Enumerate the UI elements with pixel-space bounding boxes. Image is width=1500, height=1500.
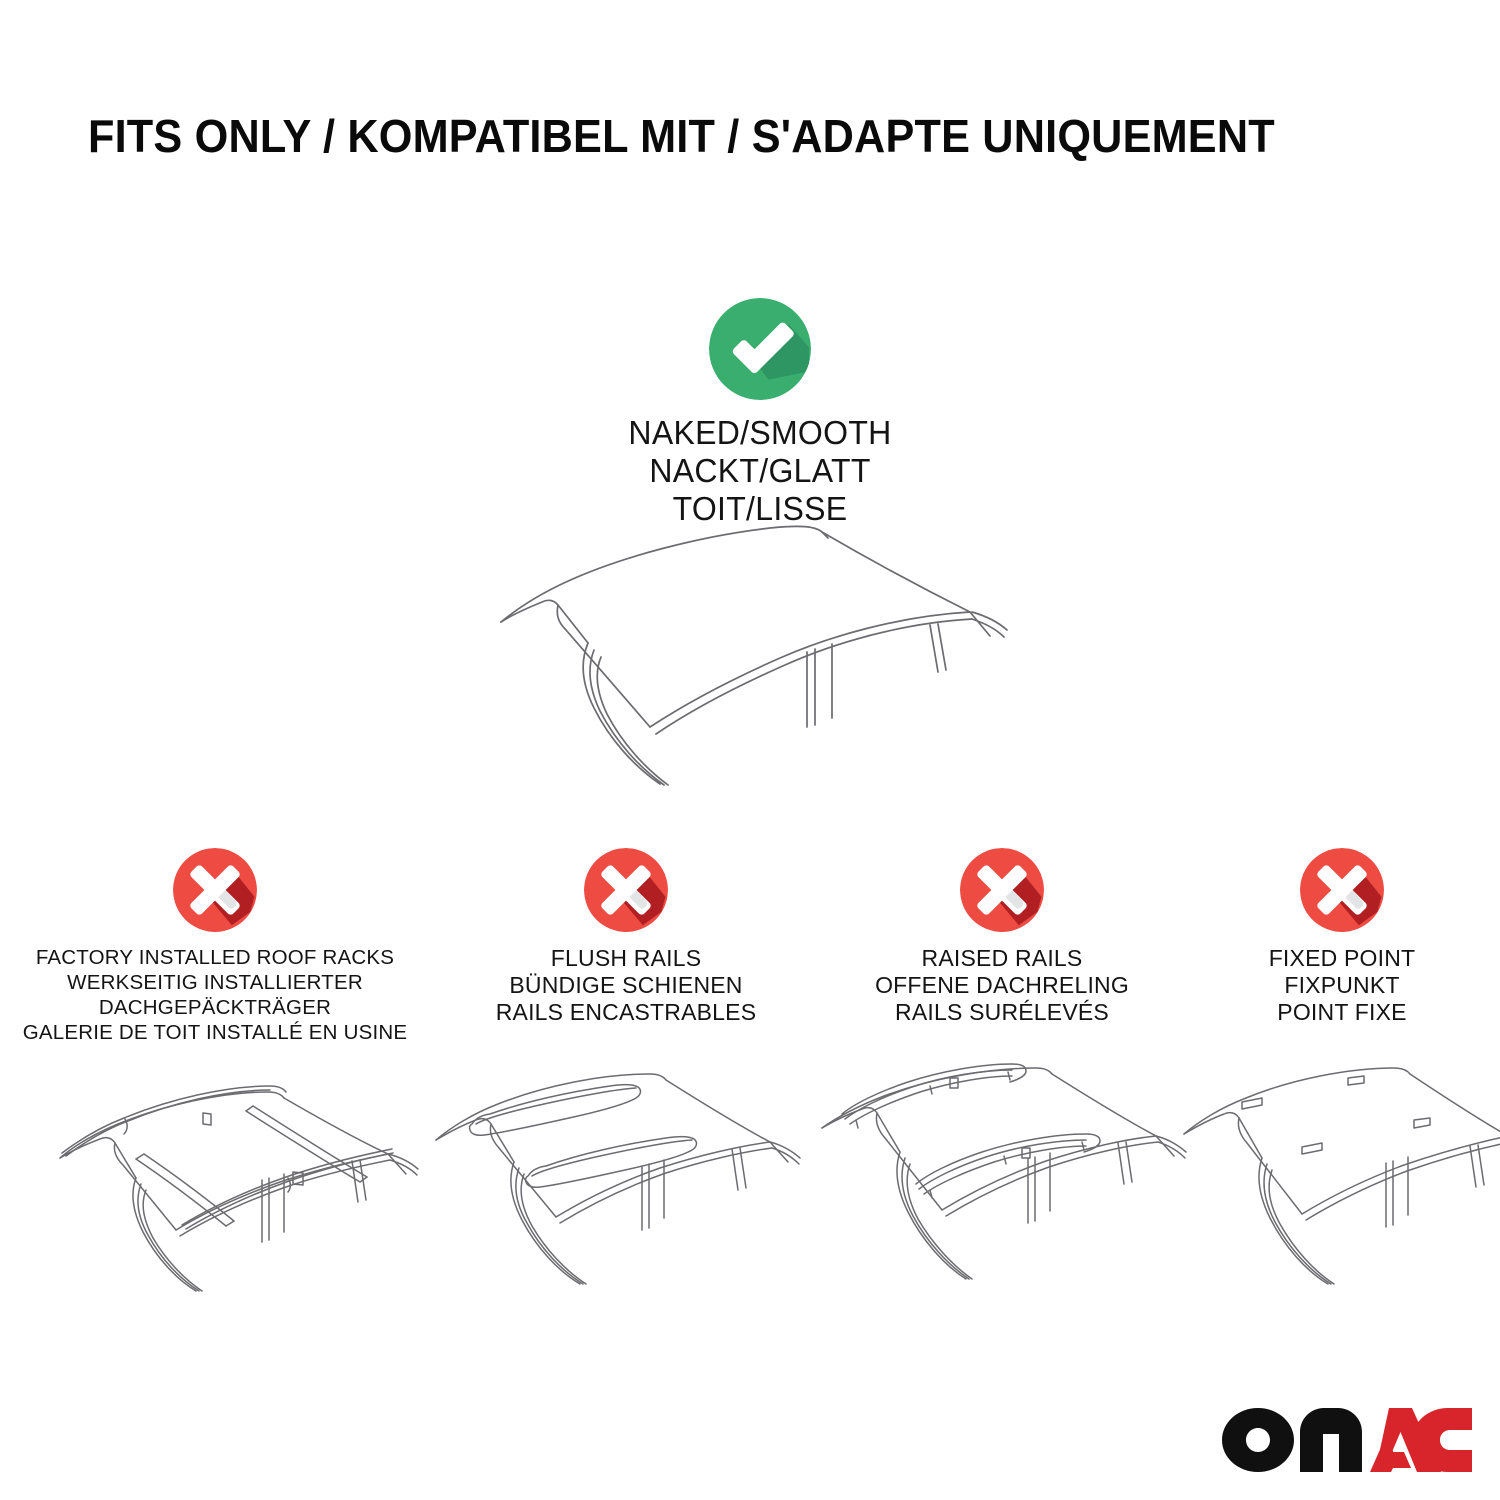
approved-caption: NAKED/SMOOTH NACKT/GLATT TOIT/LISSE	[479, 414, 1042, 528]
caption-line-1: FLUSH RAILS	[432, 945, 820, 972]
caption-line-3: POINT FIXE	[1192, 999, 1492, 1026]
caption-line-2: OFFENE DACHRELING	[808, 972, 1196, 999]
caption-line-1: FACTORY INSTALLED ROOF RACKS	[15, 945, 415, 970]
incompatible-roof-type-fixed-point: FIXED POINT FIXPUNKT POINT FIXE	[1192, 848, 1492, 1026]
incompatible-caption-factory-rack: FACTORY INSTALLED ROOF RACKS WERKSEITIG …	[15, 945, 415, 1045]
approved-caption-line-1: NAKED/SMOOTH	[479, 414, 1042, 452]
page-title: FITS ONLY / KOMPATIBEL MIT / S'ADAPTE UN…	[88, 108, 1338, 164]
caption-line-2: FIXPUNKT	[1192, 972, 1492, 999]
cross-circle-icon	[173, 848, 257, 932]
caption-line-4: GALERIE DE TOIT INSTALLÉ EN USINE	[15, 1020, 415, 1045]
caption-line-3: RAILS ENCASTRABLES	[432, 999, 820, 1026]
incompatible-roof-type-factory-rack: FACTORY INSTALLED ROOF RACKS WERKSEITIG …	[15, 848, 415, 1045]
check-circle-icon	[709, 298, 811, 400]
incompatible-roof-type-raised-rails: RAISED RAILS OFFENE DACHRELING RAILS SUR…	[808, 848, 1196, 1026]
approved-roof-type: NAKED/SMOOTH NACKT/GLATT TOIT/LISSE	[470, 298, 1050, 528]
caption-line-3: DACHGEPÄCKTRÄGER	[15, 995, 415, 1020]
incompatible-caption-raised-rails: RAISED RAILS OFFENE DACHRELING RAILS SUR…	[808, 945, 1196, 1026]
approved-caption-line-2: NACKT/GLATT	[479, 452, 1042, 490]
cross-circle-icon	[584, 848, 668, 932]
car-roof-naked-smooth-illustration	[470, 512, 1050, 812]
caption-line-1: RAISED RAILS	[808, 945, 1196, 972]
car-roof-factory-rack-illustration	[40, 1062, 440, 1292]
caption-line-1: FIXED POINT	[1192, 945, 1492, 972]
car-roof-raised-rails-illustration	[812, 1062, 1212, 1292]
incompatible-caption-flush-rails: FLUSH RAILS BÜNDIGE SCHIENEN RAILS ENCAS…	[432, 945, 820, 1026]
caption-line-2: BÜNDIGE SCHIENEN	[432, 972, 820, 999]
caption-line-3: RAILS SURÉLEVÉS	[808, 999, 1196, 1026]
cross-circle-icon	[1300, 848, 1384, 932]
incompatible-caption-fixed-point: FIXED POINT FIXPUNKT POINT FIXE	[1192, 945, 1492, 1026]
car-roof-fixed-point-illustration	[1178, 1062, 1500, 1292]
car-roof-flush-rails-illustration	[428, 1062, 828, 1292]
caption-line-2: WERKSEITIG INSTALLIERTER	[15, 970, 415, 995]
cross-circle-icon	[960, 848, 1044, 932]
incompatible-roof-type-flush-rails: FLUSH RAILS BÜNDIGE SCHIENEN RAILS ENCAS…	[432, 848, 820, 1026]
omac-logo	[1222, 1404, 1472, 1476]
